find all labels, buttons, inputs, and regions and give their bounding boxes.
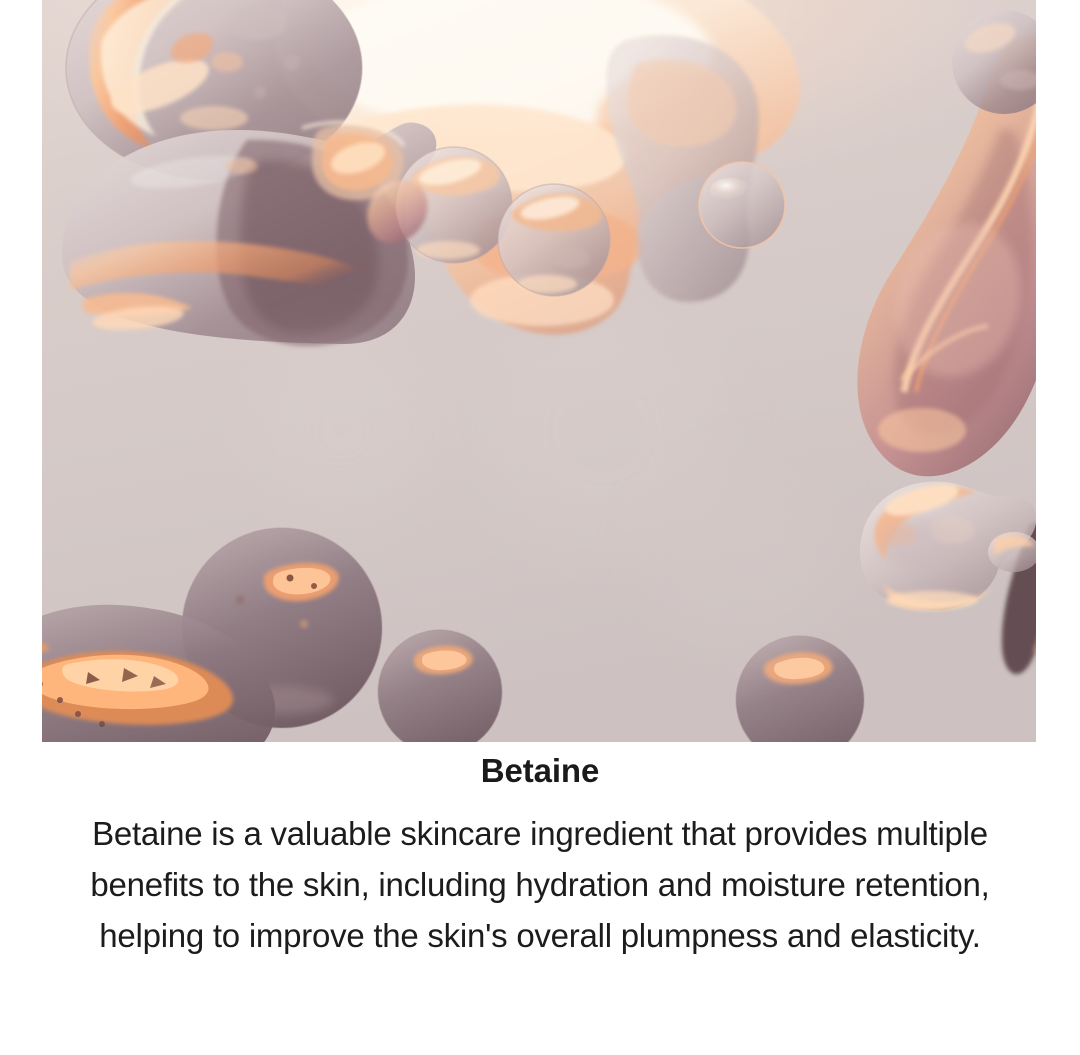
droplets-illustration	[42, 0, 1036, 742]
bubble-bottom-center	[378, 630, 502, 742]
ingredient-card: Betaine Betaine is a valuable skincare i…	[0, 0, 1080, 1055]
text-block: Betaine Betaine is a valuable skincare i…	[0, 742, 1080, 961]
ingredient-title: Betaine	[0, 742, 1080, 791]
bubble-mid-2	[498, 184, 610, 296]
bubble-center-small	[699, 162, 785, 248]
hero-image	[42, 0, 1036, 742]
ingredient-description: Betaine is a valuable skincare ingredien…	[0, 791, 1080, 961]
